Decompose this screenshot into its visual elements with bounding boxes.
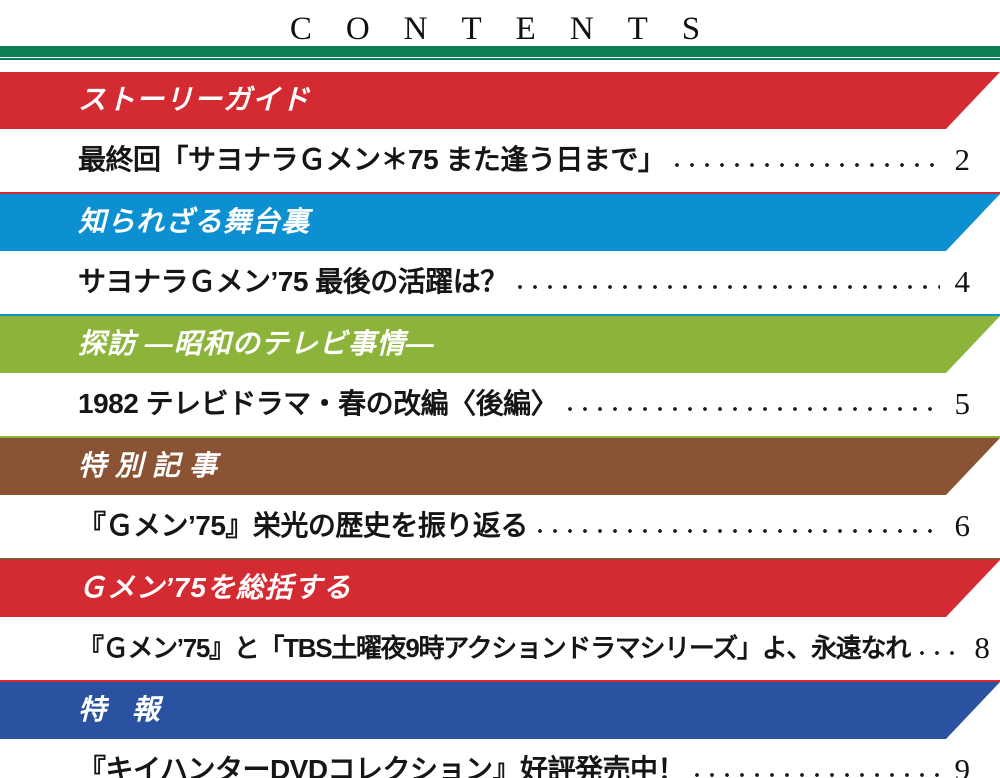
masthead-spacer bbox=[0, 60, 1000, 72]
section-news-flash: 特 報 『キイハンターDVDコレクション』好評発売中！ 9 bbox=[0, 682, 1000, 778]
toc-entry[interactable]: 『キイハンターDVDコレクション』好評発売中！ 9 bbox=[0, 739, 1000, 778]
toc-entry[interactable]: 1982 テレビドラマ・春の改編〈後編〉 5 bbox=[0, 373, 1000, 436]
toc-entry-title: 『Ｇメン’75』と「TBS土曜夜9時アクションドラマシリーズ」よ、永遠なれ bbox=[78, 635, 910, 661]
toc-entry-page-number: 9 bbox=[948, 754, 970, 778]
toc-entry[interactable]: サヨナラＧメン’75 最後の活躍は？ 4 bbox=[0, 251, 1000, 314]
toc-entry-page-number: 4 bbox=[948, 266, 970, 297]
dot-leader bbox=[538, 514, 940, 540]
section-banner-label: 特 報 bbox=[0, 696, 169, 724]
toc-entry-title: 『キイハンターDVDコレクション』好評発売中！ bbox=[78, 756, 685, 778]
toc-entry[interactable]: 『Ｇメン’75』栄光の歴史を振り返る 6 bbox=[0, 495, 1000, 558]
toc-entry-page-number: 8 bbox=[968, 632, 990, 663]
toc-entry-title: サヨナラＧメン’75 最後の活躍は？ bbox=[78, 268, 508, 296]
masthead: CONTENTS bbox=[0, 0, 1000, 46]
dot-leader bbox=[675, 148, 940, 174]
toc-entry[interactable]: 『Ｇメン’75』と「TBS土曜夜9時アクションドラマシリーズ」よ、永遠なれ 8 bbox=[0, 617, 1000, 680]
section-banner-label: 特別記事 bbox=[0, 452, 226, 480]
dot-leader bbox=[568, 392, 940, 418]
section-banner[interactable]: Ｇメン’75を総括する bbox=[0, 560, 1000, 617]
toc-entry-page-number: 6 bbox=[948, 510, 970, 541]
toc-entry[interactable]: 最終回「サヨナラＧメン＊75 また逢う日まで」 2 bbox=[0, 129, 1000, 192]
section-gmen-summary: Ｇメン’75を総括する 『Ｇメン’75』と「TBS土曜夜9時アクションドラマシリ… bbox=[0, 560, 1000, 682]
contents-page: CONTENTS ストーリーガイド 最終回「サヨナラＧメン＊75 また逢う日まで… bbox=[0, 0, 1000, 778]
toc-entry-page-number: 2 bbox=[948, 144, 970, 175]
section-story-guide: ストーリーガイド 最終回「サヨナラＧメン＊75 また逢う日まで」 2 bbox=[0, 72, 1000, 194]
toc-entry-page-number: 5 bbox=[948, 388, 970, 419]
dot-leader bbox=[518, 270, 940, 296]
section-banner[interactable]: 知られざる舞台裏 bbox=[0, 194, 1000, 251]
dot-leader bbox=[920, 636, 960, 662]
section-behind-the-scenes: 知られざる舞台裏 サヨナラＧメン’75 最後の活躍は？ 4 bbox=[0, 194, 1000, 316]
dot-leader bbox=[695, 758, 940, 778]
toc-entry-title: 最終回「サヨナラＧメン＊75 また逢う日まで」 bbox=[78, 146, 665, 174]
section-banner[interactable]: 特 報 bbox=[0, 682, 1000, 739]
section-special-article: 特別記事 『Ｇメン’75』栄光の歴史を振り返る 6 bbox=[0, 438, 1000, 560]
section-banner-label: 探訪 ―昭和のテレビ事情― bbox=[0, 330, 435, 358]
section-banner[interactable]: 探訪 ―昭和のテレビ事情― bbox=[0, 316, 1000, 373]
section-banner-label: ストーリーガイド bbox=[0, 86, 310, 114]
section-banner-label: Ｇメン’75を総括する bbox=[0, 574, 352, 602]
page-title: CONTENTS bbox=[256, 12, 734, 46]
masthead-rule-thick bbox=[0, 46, 1000, 57]
section-banner-label: 知られざる舞台裏 bbox=[0, 208, 310, 236]
section-banner[interactable]: 特別記事 bbox=[0, 438, 1000, 495]
toc-entry-title: 『Ｇメン’75』栄光の歴史を振り返る bbox=[78, 512, 528, 540]
section-tv-history-visit: 探訪 ―昭和のテレビ事情― 1982 テレビドラマ・春の改編〈後編〉 5 bbox=[0, 316, 1000, 438]
toc-entry-title: 1982 テレビドラマ・春の改編〈後編〉 bbox=[78, 390, 558, 418]
section-banner[interactable]: ストーリーガイド bbox=[0, 72, 1000, 129]
